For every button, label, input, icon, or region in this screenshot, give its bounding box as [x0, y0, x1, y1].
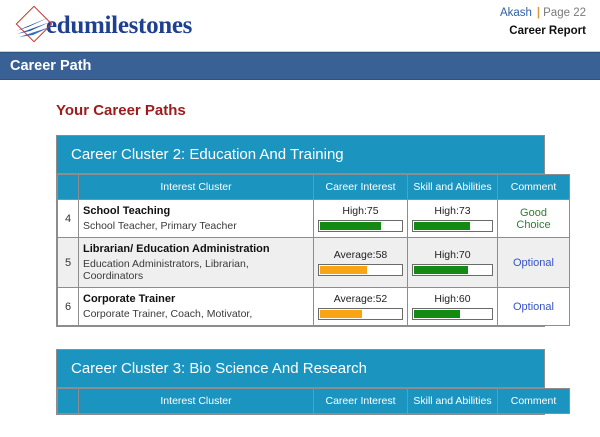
brand-logo[interactable]: edumilestones: [14, 7, 192, 45]
interest-cluster-cell: Librarian/ Education AdministrationEduca…: [79, 238, 314, 288]
header-meta: Akash|Page 22 Career Report: [500, 6, 586, 39]
career-interest-bar-fill: [320, 222, 381, 230]
skill-abilities-bar-fill: [414, 310, 460, 318]
table-row[interactable]: 6Corporate TrainerCorporate Trainer, Coa…: [58, 288, 570, 326]
column-header-career-interest: Career Interest: [314, 175, 408, 200]
column-header-comment: Comment: [498, 389, 570, 414]
edumilestones-diamond-swoosh-logo: [14, 7, 56, 45]
comment-cell: Optional: [498, 288, 570, 326]
skill-abilities-cell: High:60: [408, 288, 498, 326]
comment-text: Optional: [513, 257, 554, 269]
table-header-row: Interest ClusterCareer InterestSkill and…: [58, 175, 570, 200]
column-header-number: [58, 389, 79, 414]
header-divider: |: [537, 7, 540, 19]
column-header-interest-cluster: Interest Cluster: [79, 389, 314, 414]
report-title: Career Report: [500, 24, 586, 40]
career-clusters-list: Career Cluster 2: Education And Training…: [56, 135, 600, 415]
interest-cluster-name: Corporate Trainer: [83, 293, 309, 305]
row-number: 6: [58, 288, 79, 326]
row-number: 4: [58, 200, 79, 238]
interest-cluster-name: Librarian/ Education Administration: [83, 243, 309, 255]
interest-cluster-cell: Corporate TrainerCorporate Trainer, Coac…: [79, 288, 314, 326]
interest-cluster-roles: Corporate Trainer, Coach, Motivator,: [83, 308, 309, 320]
comment-cell: Optional: [498, 238, 570, 288]
career-interest-bar-fill: [320, 266, 367, 274]
career-interest-bar: [318, 264, 403, 276]
logo-wordmark: edumilestones: [46, 12, 192, 40]
career-interest-bar: [318, 308, 403, 320]
interest-cluster-name: School Teaching: [83, 205, 309, 217]
comment-text: Good Choice: [516, 207, 550, 231]
interest-cluster-roles: School Teacher, Primary Teacher: [83, 220, 309, 232]
comment-cell: Good Choice: [498, 200, 570, 238]
row-number: 5: [58, 238, 79, 288]
career-cluster-block: Career Cluster 3: Bio Science And Resear…: [56, 349, 545, 415]
career-interest-cell: High:75: [314, 200, 408, 238]
table-header-row: Interest ClusterCareer InterestSkill and…: [58, 389, 570, 414]
skill-abilities-cell: High:70: [408, 238, 498, 288]
career-path-title-bar: Career Path: [0, 52, 600, 80]
career-cluster-block: Career Cluster 2: Education And Training…: [56, 135, 545, 327]
interest-cluster-cell: School TeachingSchool Teacher, Primary T…: [79, 200, 314, 238]
skill-abilities-bar-fill: [414, 266, 468, 274]
skill-abilities-bar-label: High:60: [412, 293, 493, 305]
user-name: Akash: [500, 7, 532, 19]
column-header-skill-abilities: Skill and Abilities: [408, 175, 498, 200]
comment-text: Optional: [513, 301, 554, 313]
main-content: Your Career Paths Career Cluster 2: Educ…: [0, 80, 600, 437]
cluster-table: Interest ClusterCareer InterestSkill and…: [57, 174, 570, 326]
career-interest-bar: [318, 220, 403, 232]
skill-abilities-bar-fill: [414, 222, 470, 230]
column-header-number: [58, 175, 79, 200]
career-interest-cell: Average:58: [314, 238, 408, 288]
career-interest-cell: Average:52: [314, 288, 408, 326]
table-row[interactable]: 5Librarian/ Education AdministrationEduc…: [58, 238, 570, 288]
cluster-heading: Career Cluster 2: Education And Training: [57, 136, 544, 174]
section-heading: Your Career Paths: [56, 102, 600, 119]
cluster-table: Interest ClusterCareer InterestSkill and…: [57, 388, 570, 414]
logo-swoosh-icon: [14, 14, 56, 40]
cluster-heading: Career Cluster 3: Bio Science And Resear…: [57, 350, 544, 388]
interest-cluster-roles: Education Administrators, Librarian, Coo…: [83, 258, 309, 282]
career-interest-bar-label: High:75: [318, 205, 403, 217]
skill-abilities-bar: [412, 264, 493, 276]
column-header-comment: Comment: [498, 175, 570, 200]
page-number-label: Page 22: [543, 7, 586, 19]
skill-abilities-bar-label: High:73: [412, 205, 493, 217]
skill-abilities-bar: [412, 220, 493, 232]
page-header: edumilestones Akash|Page 22 Career Repor…: [0, 0, 600, 52]
skill-abilities-bar-label: High:70: [412, 249, 493, 261]
career-interest-bar-label: Average:58: [318, 249, 403, 261]
career-interest-bar-label: Average:52: [318, 293, 403, 305]
column-header-interest-cluster: Interest Cluster: [79, 175, 314, 200]
career-interest-bar-fill: [320, 310, 362, 318]
page-title: Career Path: [10, 58, 91, 74]
column-header-skill-abilities: Skill and Abilities: [408, 389, 498, 414]
skill-abilities-bar: [412, 308, 493, 320]
skill-abilities-cell: High:73: [408, 200, 498, 238]
table-row[interactable]: 4School TeachingSchool Teacher, Primary …: [58, 200, 570, 238]
column-header-career-interest: Career Interest: [314, 389, 408, 414]
